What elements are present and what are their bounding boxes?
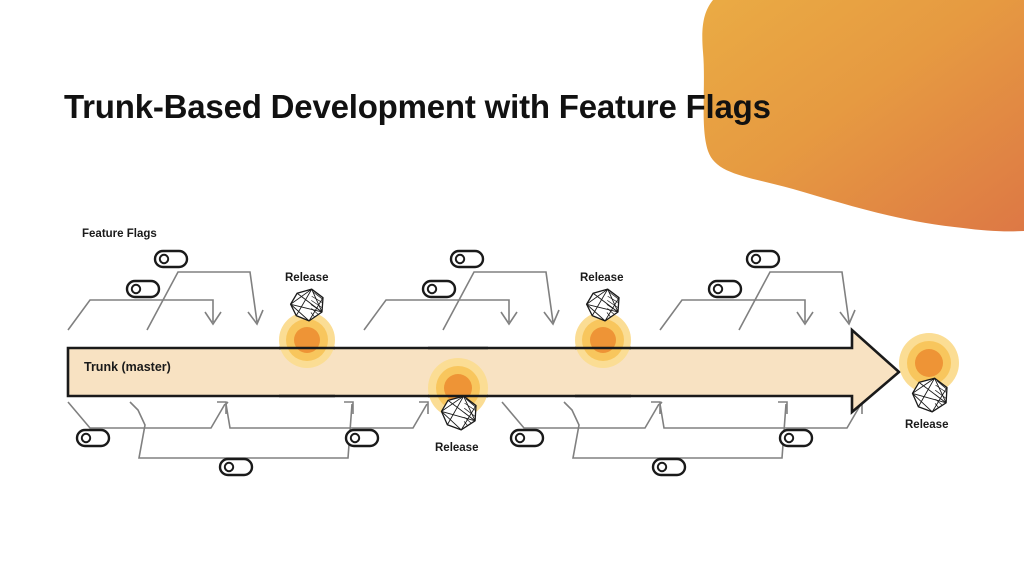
bottom-branch-group-3 [502,402,787,458]
feature-flag-toggle[interactable] [780,430,812,446]
feature-flag-toggle[interactable] [155,251,187,267]
feature-flag-toggle[interactable] [653,459,685,475]
top-branch-group-3 [660,272,855,330]
feature-flag-toggle[interactable] [220,459,252,475]
release-label-1: Release [285,272,328,284]
feature-flag-toggle[interactable] [511,430,543,446]
bottom-branch-group-4 [660,402,862,428]
feature-flag-toggle[interactable] [747,251,779,267]
release-label-4: Release [905,419,948,431]
trunk-label: Trunk (master) [84,360,171,374]
bottom-branch-group-1 [68,402,353,458]
release-label-3: Release [580,272,623,284]
slide-canvas: Trunk-Based Development with Feature Fla… [0,0,1024,571]
bottom-branch-group-2 [226,402,428,428]
release-label-2: Release [435,442,478,454]
feature-flag-toggle[interactable] [709,281,741,297]
feature-flags-label: Feature Flags [82,228,157,240]
top-branch-group-1 [68,272,263,330]
feature-flag-toggle[interactable] [77,430,109,446]
feature-flag-toggle[interactable] [451,251,483,267]
feature-flag-toggle[interactable] [423,281,455,297]
feature-flag-toggle[interactable] [127,281,159,297]
trunk-based-development-diagram [0,0,1024,571]
feature-flag-toggle[interactable] [346,430,378,446]
top-branch-group-2 [364,272,559,330]
